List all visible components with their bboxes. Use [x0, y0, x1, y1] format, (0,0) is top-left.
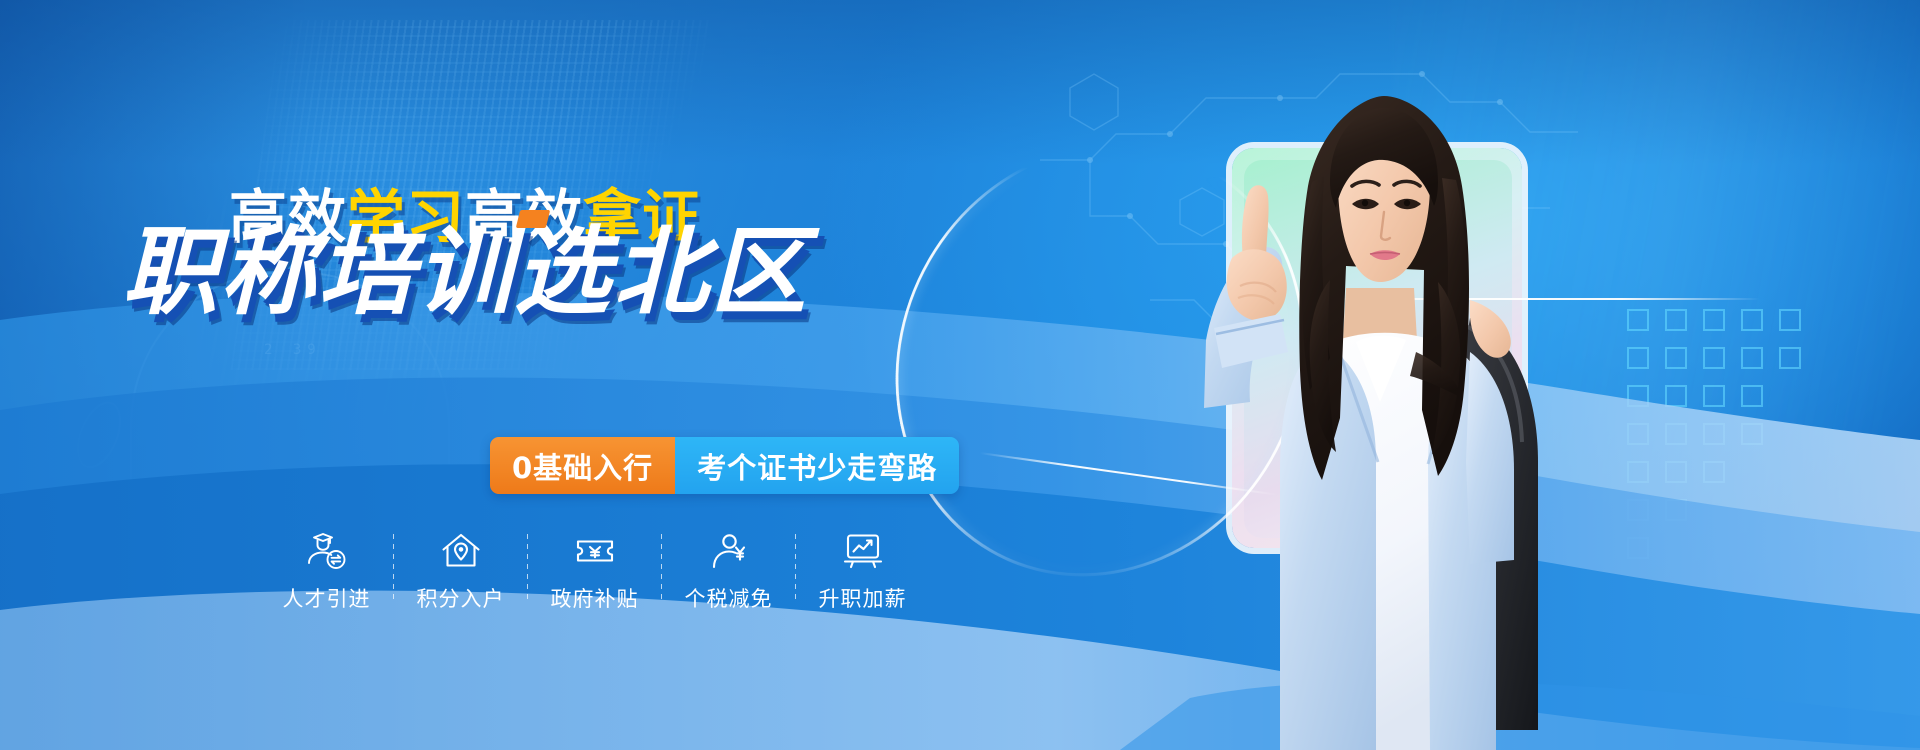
feature-label: 升职加薪 — [819, 583, 907, 613]
feature-item-talent-introduction[interactable]: 人才引进 — [260, 530, 393, 613]
tagline-pill-right[interactable]: 考个证书少走弯路 — [675, 437, 959, 494]
house-pin-icon — [438, 530, 484, 572]
person-yuan-icon — [706, 530, 752, 572]
graduate-exchange-icon — [304, 530, 350, 572]
model-figure — [1170, 90, 1600, 750]
model-photo-stage — [1000, 0, 1760, 750]
ticket-yuan-icon — [572, 530, 618, 572]
tagline-pill[interactable]: 0基础入行 考个证书少走弯路 — [490, 437, 959, 494]
feature-label: 积分入户 — [417, 583, 505, 613]
tagline-pill-left[interactable]: 0基础入行 — [490, 437, 675, 494]
feature-label: 个税减免 — [685, 583, 773, 613]
feature-item-points-residency[interactable]: 积分入户 — [394, 530, 527, 613]
promo-banner: 2 39 — [0, 0, 1920, 750]
feature-item-government-subsidy[interactable]: 政府补贴 — [528, 530, 661, 613]
feature-list: 人才引进 积分入户 — [260, 530, 929, 613]
feature-item-promotion-raise[interactable]: 升职加薪 — [796, 530, 929, 613]
chart-board-icon — [840, 530, 886, 572]
feature-label: 政府补贴 — [551, 583, 639, 613]
feature-item-tax-reduction[interactable]: 个税减免 — [662, 530, 795, 613]
feature-label: 人才引进 — [283, 583, 371, 613]
